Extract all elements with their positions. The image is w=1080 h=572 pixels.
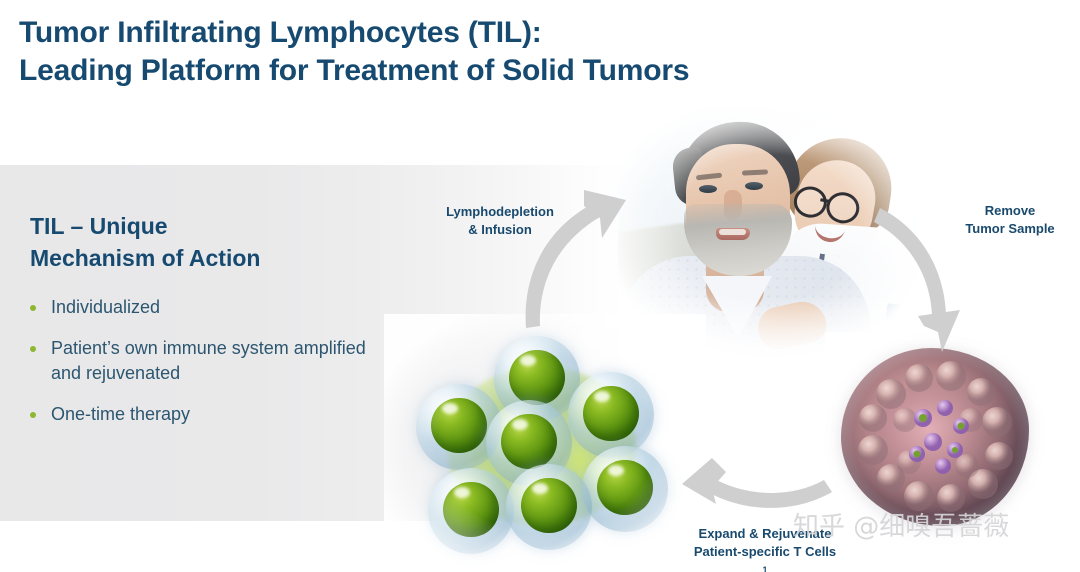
label-line-1: Remove <box>930 202 1080 220</box>
label-line-2-text: Patient-specific T Cells <box>660 543 870 561</box>
list-item: One-time therapy <box>24 402 384 427</box>
panel-heading-line-2: Mechanism of Action <box>30 242 360 274</box>
label-remove-tumor-sample: Remove Tumor Sample <box>930 202 1080 238</box>
label-line-1: Lymphodepletion <box>420 203 580 221</box>
title-line-2: Leading Platform for Treatment of Solid … <box>19 52 879 90</box>
title-line-1: Tumor Infiltrating Lymphocytes (TIL): <box>19 16 542 49</box>
label-lymphodepletion: Lymphodepletion & Infusion <box>420 203 580 239</box>
label-line-2: Patient-specific T Cells1 <box>660 543 870 572</box>
slide-root: Tumor Infiltrating Lymphocytes (TIL): Le… <box>0 0 1080 572</box>
list-item: Patient’s own immune system amplified an… <box>24 336 384 386</box>
watermark: 知乎 @细嗅吾蔷薇 <box>793 512 1009 542</box>
page-title: Tumor Infiltrating Lymphocytes (TIL): Le… <box>19 14 879 90</box>
bullet-list: Individualized Patient’s own immune syst… <box>24 295 384 443</box>
curved-arrow-icon <box>682 458 832 508</box>
panel-heading: TIL – Unique Mechanism of Action <box>30 210 360 274</box>
panel-heading-line-1: TIL – Unique <box>30 213 168 239</box>
label-line-2: & Infusion <box>420 221 580 239</box>
list-item: Individualized <box>24 295 384 320</box>
footnote-marker: 1 <box>660 561 870 572</box>
label-line-2: Tumor Sample <box>930 220 1080 238</box>
treatment-cycle-diagram: Lymphodepletion & Infusion Remove Tumor … <box>380 100 1080 572</box>
cycle-arrows <box>380 100 1080 572</box>
